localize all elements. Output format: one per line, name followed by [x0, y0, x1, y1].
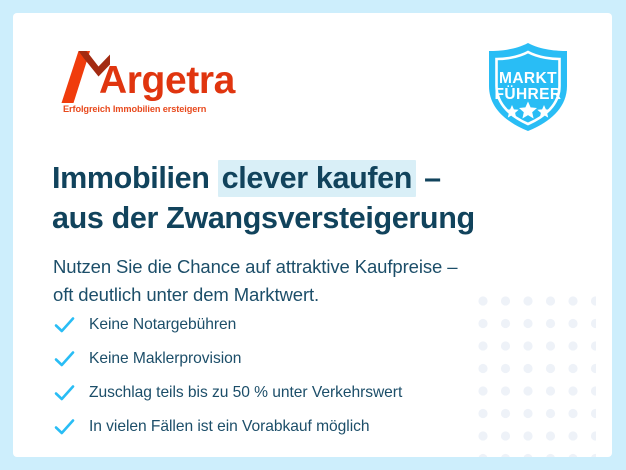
headline-prefix: Immobilien [52, 161, 218, 195]
market-leader-badge: MARKT FÜHRER [482, 41, 574, 133]
subheadline-line-2: oft deutlich unter dem Marktwert. [53, 281, 563, 309]
list-item: Keine Notargebühren [53, 309, 523, 340]
subheadline: Nutzen Sie die Chance auf attraktive Kau… [53, 253, 563, 309]
banner-card: Argetra Erfolgreich Immobilien ersteiger… [13, 13, 612, 457]
feature-label: Keine Maklerprovision [89, 350, 241, 368]
logo-tagline: Erfolgreich Immobilien ersteigern [63, 104, 206, 114]
feature-list: Keine Notargebühren Keine Maklerprovisio… [53, 309, 523, 445]
headline-line-1: Immobilien clever kaufen – [52, 159, 572, 198]
check-icon [53, 415, 76, 438]
promo-banner: Argetra Erfolgreich Immobilien ersteiger… [0, 0, 626, 470]
headline-line-2: aus der Zwangsversteigerung [52, 199, 572, 238]
subheadline-line-1: Nutzen Sie die Chance auf attraktive Kau… [53, 253, 563, 281]
argetra-logo[interactable]: Argetra Erfolgreich Immobilien ersteiger… [59, 47, 259, 125]
feature-label: In vielen Fällen ist ein Vorabkauf mögli… [89, 418, 369, 436]
feature-label: Keine Notargebühren [89, 316, 236, 334]
headline-highlight: clever kaufen [218, 160, 416, 197]
list-item: In vielen Fällen ist ein Vorabkauf mögli… [53, 411, 523, 442]
list-item: Zuschlag teils bis zu 50 % unter Verkehr… [53, 377, 523, 408]
logo-wordmark: Argetra [99, 61, 235, 100]
headline: Immobilien clever kaufen – aus der Zwang… [52, 159, 572, 238]
check-icon [53, 381, 76, 404]
list-item: Keine Maklerprovision [53, 343, 523, 374]
check-icon [53, 313, 76, 336]
badge-line1-text: MARKT [499, 70, 557, 87]
check-icon [53, 347, 76, 370]
feature-label: Zuschlag teils bis zu 50 % unter Verkehr… [89, 384, 402, 402]
badge-line2-text: FÜHRER [495, 86, 562, 103]
headline-suffix: – [416, 161, 441, 195]
